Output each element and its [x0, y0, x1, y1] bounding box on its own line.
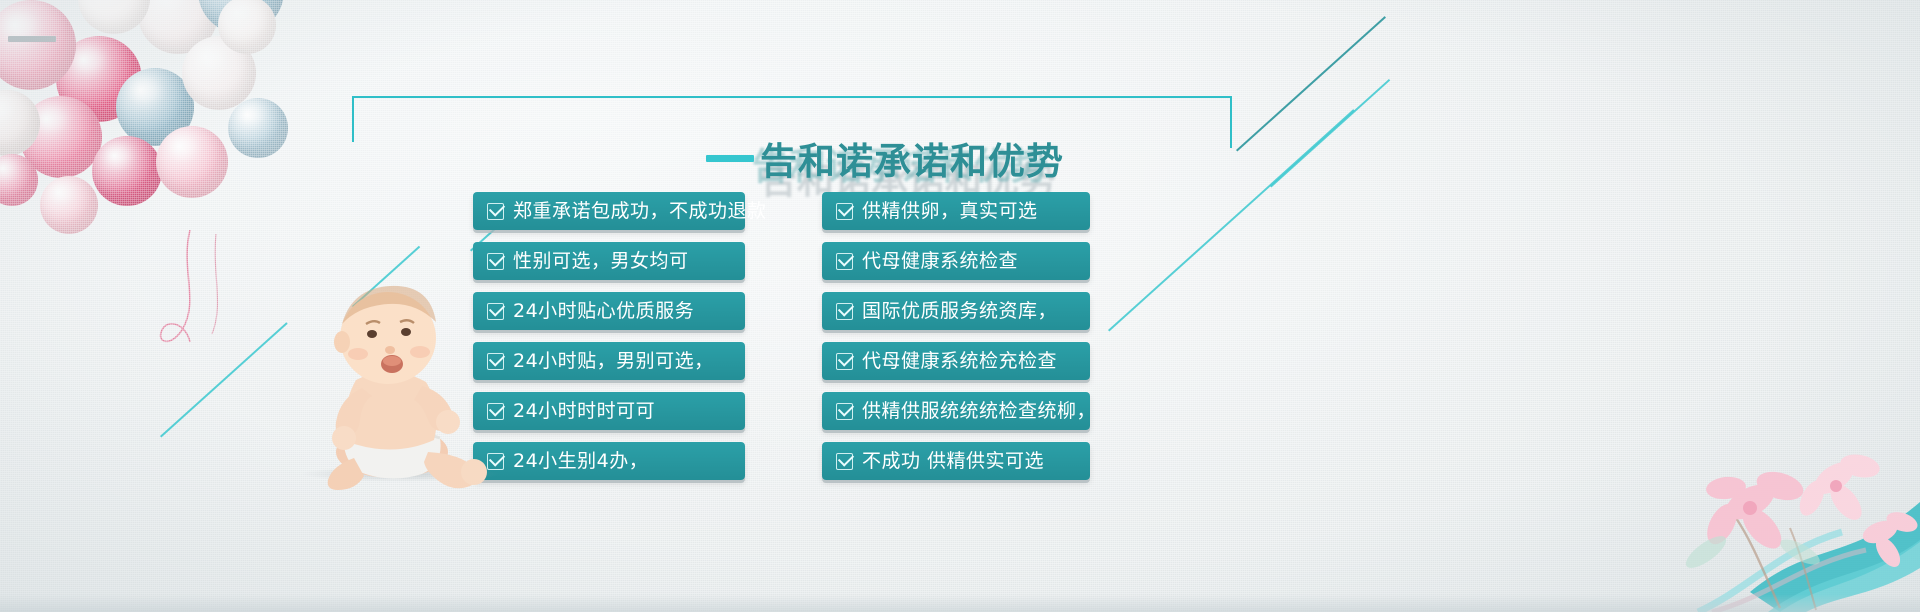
- feature-pill-label: 性别可选，男女均可: [513, 252, 689, 271]
- feature-pill[interactable]: 代母健康系统检充检查: [822, 342, 1090, 380]
- floor-shadow: [0, 594, 1920, 612]
- checkbox-check-icon: [487, 403, 504, 420]
- flower-ribbon-decoration: [1450, 382, 1920, 612]
- feature-pill-label: 代母健康系统检充检查: [862, 352, 1057, 371]
- checkbox-check-icon: [836, 403, 853, 420]
- feature-pill[interactable]: 供精供服统统统检查统柳，: [822, 392, 1090, 430]
- feature-pill[interactable]: 24小时时时可可: [473, 392, 745, 430]
- feature-pill-label: 国际优质服务统资库，: [862, 302, 1057, 321]
- checkbox-check-icon: [836, 303, 853, 320]
- feature-pill-label: 郑重承诺包成功，不成功退款: [513, 202, 767, 221]
- feature-pill[interactable]: 郑重承诺包成功，不成功退款: [473, 192, 745, 230]
- feature-pill-label: 供精供服统统统检查统柳，: [862, 402, 1096, 421]
- feature-pill[interactable]: 供精供卵，真实可选: [822, 192, 1090, 230]
- feature-pill-label: 不成功 供精供实可选: [862, 452, 1044, 471]
- checkbox-check-icon: [836, 353, 853, 370]
- feature-pill[interactable]: 24小时贴心优质服务: [473, 292, 745, 330]
- checkbox-check-icon: [836, 453, 853, 470]
- feature-pill-label: 代母健康系统检查: [862, 252, 1018, 271]
- banner-stage: 告和诺承诺和优势 告和诺承诺和优势 告和诺承诺和优势 郑重承诺包成功，不成功退款…: [0, 0, 1920, 612]
- feature-pill[interactable]: 不成功 供精供实可选: [822, 442, 1090, 480]
- feature-pill[interactable]: 性别可选，男女均可: [473, 242, 745, 280]
- feature-pill-label: 24小生别4办，: [513, 452, 648, 471]
- baby-photo: [288, 276, 488, 492]
- feature-pill-label: 24小时贴心优质服务: [513, 302, 694, 321]
- feature-pill[interactable]: 代母健康系统检查: [822, 242, 1090, 280]
- checkbox-check-icon: [487, 353, 504, 370]
- feature-pill[interactable]: 24小时贴，男别可选，: [473, 342, 745, 380]
- checkbox-check-icon: [487, 303, 504, 320]
- checkbox-check-icon: [836, 253, 853, 270]
- feature-pill-label: 供精供卵，真实可选: [862, 202, 1038, 221]
- feature-pill-label: 24小时贴，男别可选，: [513, 352, 714, 371]
- checkbox-check-icon: [487, 203, 504, 220]
- feature-pill[interactable]: 24小生别4办，: [473, 442, 745, 480]
- checkbox-check-icon: [487, 253, 504, 270]
- checkbox-check-icon: [836, 203, 853, 220]
- feature-pill[interactable]: 国际优质服务统资库，: [822, 292, 1090, 330]
- feature-pill-label: 24小时时时可可: [513, 402, 655, 421]
